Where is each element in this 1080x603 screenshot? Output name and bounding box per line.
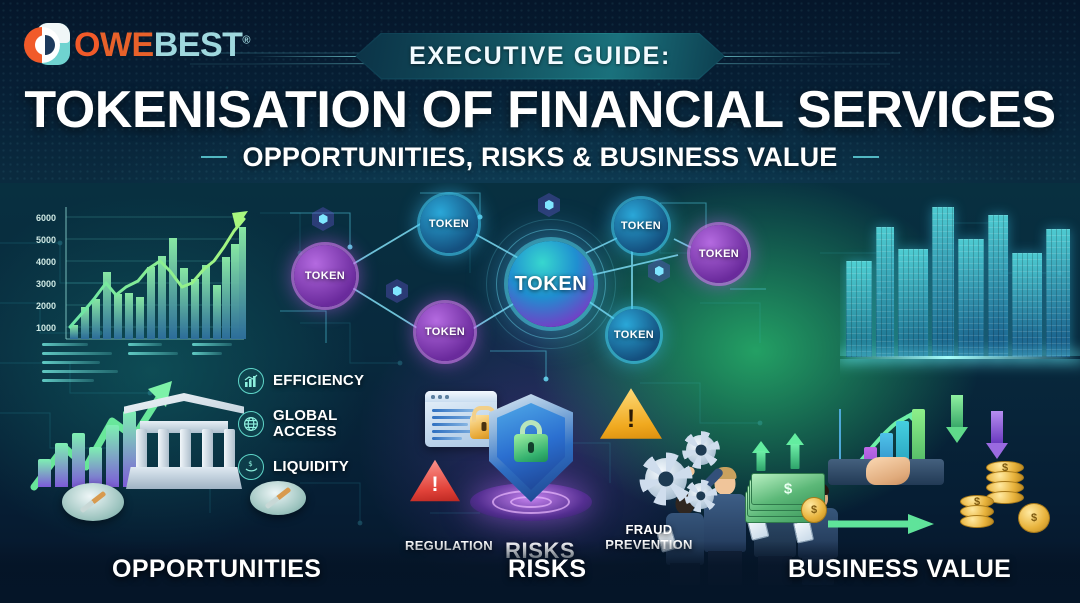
benefit-item-liquidity[interactable]: $ LIQUIDITY xyxy=(238,454,388,480)
growth-chart: 6000 5000 4000 3000 2000 1000 xyxy=(22,199,250,357)
y-tick-5000: 5000 xyxy=(22,235,56,245)
skyline-glow-line xyxy=(840,356,1080,359)
benefit-item-global-access[interactable]: GLOBAL ACCESS xyxy=(238,408,388,440)
token-node-left-label: TOKEN xyxy=(305,270,345,282)
eyebrow-banner-text: EXECUTIVE GUIDE: xyxy=(409,42,671,71)
benefit-label-liquidity: LIQUIDITY xyxy=(273,459,349,475)
up-arrow-icon-2 xyxy=(786,433,804,469)
token-node-top-left-label: TOKEN xyxy=(429,218,469,230)
page-subtitle: OPPORTUNITIES, RISKS & BUSINESS VALUE xyxy=(243,142,838,173)
token-node-bottom-left-label: TOKEN xyxy=(425,326,465,338)
streamlining-arrow-icon xyxy=(828,513,938,535)
subtitle-dash-right xyxy=(853,156,879,158)
compass-icon xyxy=(62,483,124,521)
brand-name: OWEBEST® xyxy=(74,28,250,62)
eyebrow-banner: EXECUTIVE GUIDE: xyxy=(355,33,725,80)
down-arrow-icon-green xyxy=(946,395,968,443)
growth-chart-svg xyxy=(22,199,250,357)
token-node-top-left[interactable]: TOKEN xyxy=(420,195,478,253)
infographic-poster: OWEBEST® EXECUTIVE GUIDE: TOKENISATION O… xyxy=(0,0,1080,603)
bank-building-icon xyxy=(120,393,248,503)
y-tick-3000: 3000 xyxy=(22,279,56,289)
owebest-logo-icon xyxy=(24,21,72,67)
poster-header: OWEBEST® EXECUTIVE GUIDE: TOKENISATION O… xyxy=(0,0,1080,183)
token-node-right[interactable]: TOKEN xyxy=(690,225,748,283)
brand-name-part1: O xyxy=(74,26,100,64)
digital-city-skyline-icon xyxy=(840,183,1080,383)
benefit-label-global-access: GLOBAL ACCESS xyxy=(273,408,388,440)
coin-stack-icon: $ $ $ xyxy=(960,461,1056,533)
down-arrow-icon-purple xyxy=(986,411,1008,459)
globe-icon xyxy=(238,411,264,437)
y-tick-6000: 6000 xyxy=(22,213,56,223)
banner-line-left-2 xyxy=(252,63,382,64)
y-tick-1000: 1000 xyxy=(22,323,56,333)
brand-name-part2: WE xyxy=(100,26,154,64)
token-node-center[interactable]: TOKEN xyxy=(508,241,594,327)
gear-icon-medium xyxy=(686,435,716,465)
section-label-business-value: BUSINESS VALUE xyxy=(788,555,1011,584)
svg-text:$: $ xyxy=(248,460,252,468)
yellow-warning-triangle-icon: ! xyxy=(600,386,662,441)
cash-stack-icon: $ xyxy=(745,473,825,525)
y-tick-4000: 4000 xyxy=(22,257,56,267)
section-label-opportunities: OPPORTUNITIES xyxy=(112,555,321,584)
gear-icon-large xyxy=(645,458,687,500)
bar-chart-icon xyxy=(238,368,264,394)
banner-line-right-2 xyxy=(698,63,828,64)
subtitle-row: OPPORTUNITIES, RISKS & BUSINESS VALUE xyxy=(0,142,1080,172)
handshake-icon xyxy=(828,449,944,505)
up-arrow-icon-1 xyxy=(752,441,770,471)
token-network-diagram: TOKEN TOKEN TOKEN TOKEN TOKEN TOKEN TOKE… xyxy=(270,183,770,393)
brand-name-part3: BEST xyxy=(154,26,243,64)
poster-body: 6000 5000 4000 3000 2000 1000 xyxy=(0,183,1080,603)
y-tick-2000: 2000 xyxy=(22,301,56,311)
trademark-symbol: ® xyxy=(242,35,250,47)
subtitle-dash-left xyxy=(201,156,227,158)
token-node-top-right-label: TOKEN xyxy=(621,220,661,232)
page-title: TOKENISATION OF FINANCIAL SERVICES xyxy=(0,80,1080,140)
section-label-row: OPPORTUNITIES RISKS BUSINESS VALUE xyxy=(0,555,1080,589)
token-node-bottom-right[interactable]: TOKEN xyxy=(608,309,660,361)
token-node-bottom-left[interactable]: TOKEN xyxy=(416,303,474,361)
section-label-risks: RISKS xyxy=(508,555,586,584)
token-node-right-label: TOKEN xyxy=(699,248,739,260)
token-node-center-label: TOKEN xyxy=(515,273,588,296)
red-warning-triangle-icon: ! xyxy=(410,458,460,503)
money-hand-icon: $ xyxy=(238,454,264,480)
token-node-bottom-right-label: TOKEN xyxy=(614,329,654,341)
token-node-left[interactable]: TOKEN xyxy=(294,245,356,307)
brand-logo[interactable]: OWEBEST® xyxy=(24,20,250,68)
gear-icon-small xyxy=(688,483,714,509)
token-node-top-right[interactable]: TOKEN xyxy=(614,199,668,253)
